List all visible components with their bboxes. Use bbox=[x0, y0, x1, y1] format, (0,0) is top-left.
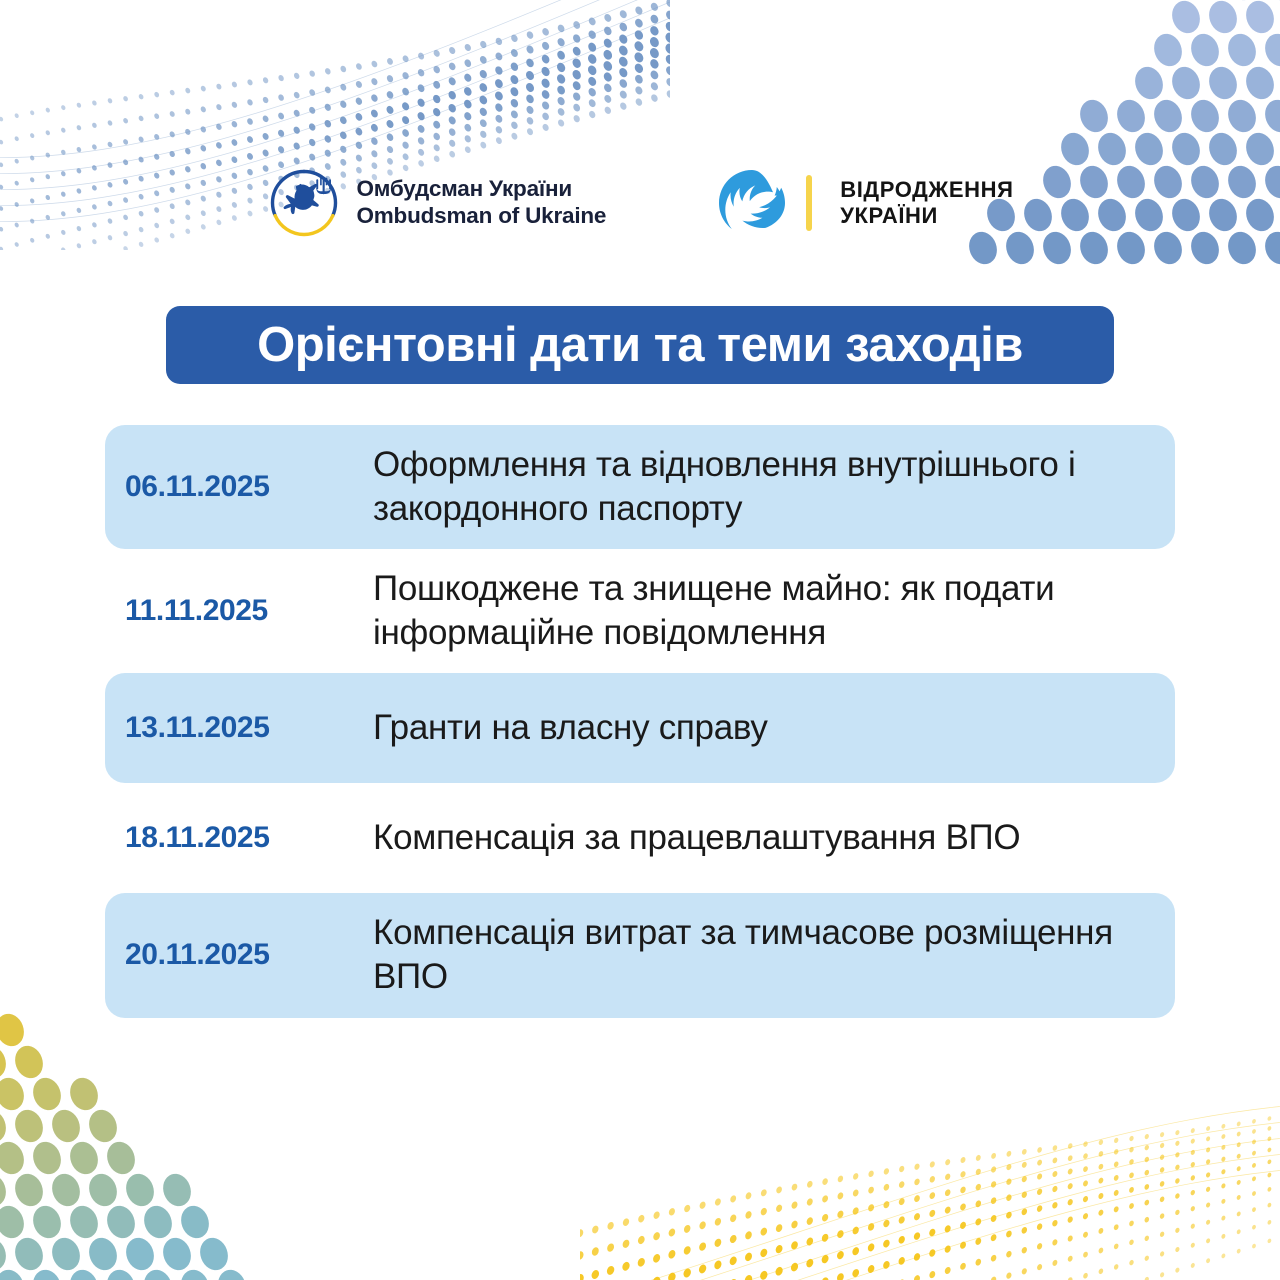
ombudsman-logo-line-en: Ombudsman of Ukraine bbox=[356, 203, 606, 230]
schedule-row: 11.11.2025Пошкоджене та знищене майно: я… bbox=[105, 549, 1175, 673]
poster-canvas: Омбудсман України Ombudsman of Ukraine В… bbox=[0, 0, 1280, 1280]
schedule-row: 18.11.2025Компенсація за працевлаштуванн… bbox=[105, 783, 1175, 893]
vidrodzhennia-logo-line-1: ВІДРОДЖЕННЯ bbox=[840, 177, 1013, 203]
schedule-row-topic: Пошкоджене та знищене майно: як подати і… bbox=[373, 567, 1175, 655]
schedule-row-topic: Компенсація за працевлаштування ВПО bbox=[373, 816, 1175, 860]
schedule-row-date: 18.11.2025 bbox=[105, 821, 373, 855]
schedule-row-topic: Оформлення та відновлення внутрішнього і… bbox=[373, 443, 1175, 531]
schedule-row-topic: Компенсація витрат за тимчасове розміщен… bbox=[373, 911, 1175, 999]
schedule-list: 06.11.2025Оформлення та відновлення внут… bbox=[105, 425, 1175, 1018]
halftone-grid-bottom-left-decoration bbox=[0, 990, 270, 1280]
vidrodzhennia-logo-text: ВІДРОДЖЕННЯ УКРАЇНИ bbox=[840, 177, 1013, 230]
schedule-row: 13.11.2025Гранти на власну справу bbox=[105, 673, 1175, 783]
ombudsman-logo-text: Омбудсман України Ombudsman of Ukraine bbox=[356, 176, 606, 229]
page-title: Орієнтовні дати та теми заходів bbox=[257, 321, 1023, 370]
page-title-banner: Орієнтовні дати та теми заходів bbox=[166, 306, 1114, 384]
dove-in-circle-icon bbox=[266, 165, 342, 241]
schedule-row: 06.11.2025Оформлення та відновлення внут… bbox=[105, 425, 1175, 549]
vidrodzhennia-logo: ВІДРОДЖЕННЯ УКРАЇНИ bbox=[716, 167, 1013, 239]
ombudsman-logo: Омбудсман України Ombudsman of Ukraine bbox=[266, 165, 606, 241]
schedule-row-date: 11.11.2025 bbox=[105, 594, 373, 628]
schedule-row-date: 13.11.2025 bbox=[105, 711, 373, 745]
logo-divider bbox=[806, 175, 812, 231]
vidrodzhennia-logo-line-2: УКРАЇНИ bbox=[840, 203, 1013, 229]
schedule-row-topic: Гранти на власну справу bbox=[373, 706, 1175, 750]
schedule-row-date: 20.11.2025 bbox=[105, 938, 373, 972]
logo-row: Омбудсман України Ombudsman of Ukraine В… bbox=[0, 158, 1280, 248]
schedule-row-date: 06.11.2025 bbox=[105, 470, 373, 504]
halftone-wave-bottom-right-decoration bbox=[580, 1040, 1280, 1280]
schedule-row: 20.11.2025Компенсація витрат за тимчасов… bbox=[105, 893, 1175, 1017]
ombudsman-logo-line-uk: Омбудсман України bbox=[356, 176, 606, 203]
phoenix-bird-icon bbox=[716, 167, 788, 239]
